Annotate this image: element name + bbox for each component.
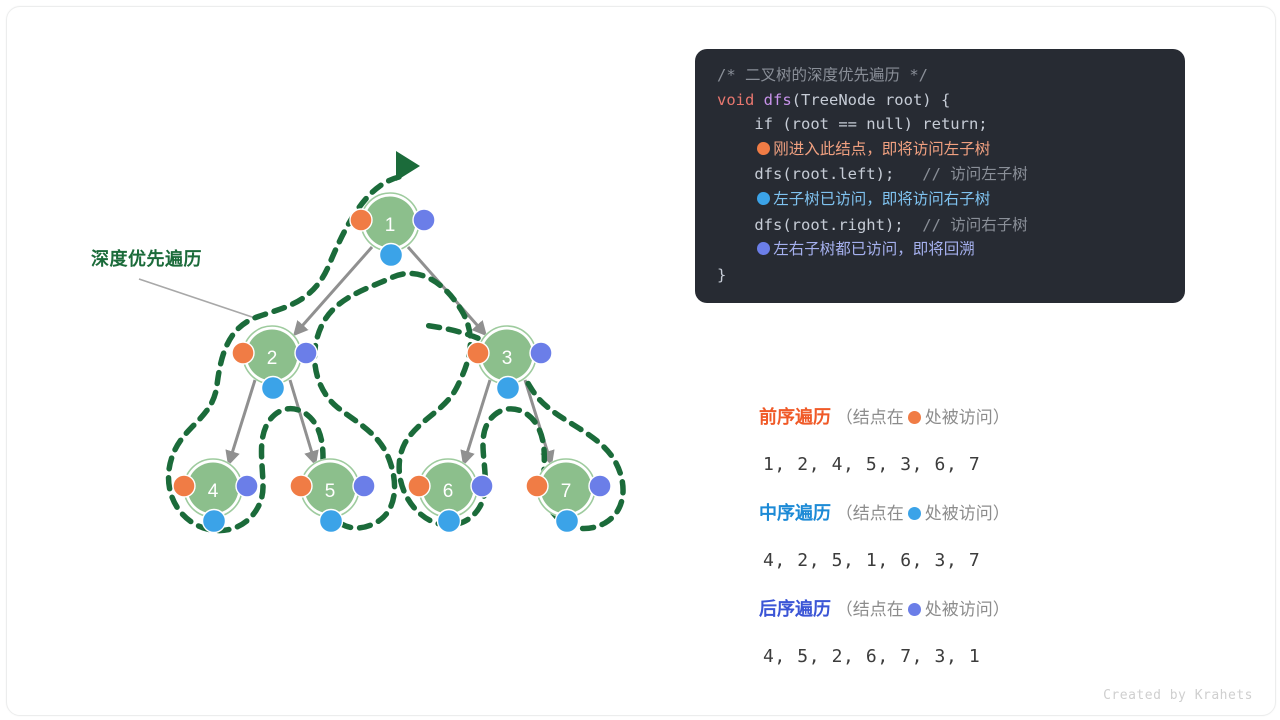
inorder-paren-open: （结点在 bbox=[836, 504, 904, 523]
preorder-paren-open: （结点在 bbox=[836, 408, 904, 427]
inorder-sequence: 4, 2, 5, 1, 6, 3, 7 bbox=[759, 537, 1189, 585]
code-line-dfs-left: dfs(root.left); // 访问左子树 bbox=[695, 162, 1185, 187]
node-value: 5 bbox=[325, 481, 336, 502]
in-order-dot bbox=[320, 510, 343, 533]
in-order-dot bbox=[556, 510, 579, 533]
postorder-paren-close: 处被访问） bbox=[925, 600, 1010, 619]
pre-order-dot bbox=[526, 475, 548, 497]
code-annotation-preorder: 刚进入此结点，即将访问左子树 bbox=[695, 137, 1185, 163]
signature-params: (TreeNode root) { bbox=[792, 91, 951, 109]
annotation-preorder-text: 刚进入此结点，即将访问左子树 bbox=[773, 141, 990, 158]
label-leader-line bbox=[139, 279, 255, 318]
pre-order-dot bbox=[350, 209, 372, 231]
post-order-dot bbox=[353, 475, 375, 497]
node-value: 2 bbox=[267, 348, 278, 369]
post-order-dot bbox=[471, 475, 493, 497]
code-line-close-brace: } bbox=[695, 263, 1185, 288]
inorder-heading: 中序遍历 （结点在处被访问） bbox=[759, 489, 1189, 538]
code-line-comment-header: /* 二叉树的深度优先遍历 */ bbox=[695, 63, 1185, 88]
traversal-orders: 前序遍历 （结点在处被访问） 1, 2, 4, 5, 3, 6, 7 中序遍历 … bbox=[759, 393, 1189, 681]
keyword-void: void bbox=[717, 91, 754, 109]
tree-node[interactable]: 6 bbox=[408, 458, 493, 533]
postorder-heading: 后序遍历 （结点在处被访问） bbox=[759, 585, 1189, 634]
post-order-dot bbox=[589, 475, 611, 497]
post-order-dot bbox=[530, 342, 552, 364]
postorder-paren-open: （结点在 bbox=[836, 600, 904, 619]
figure-card: 1 2 bbox=[6, 6, 1276, 716]
traversal-order-row: 中序遍历 （结点在处被访问） bbox=[759, 489, 1189, 537]
traversal-sequence-row: 4, 5, 2, 6, 7, 3, 1 bbox=[759, 633, 1189, 681]
in-order-dot bbox=[380, 244, 403, 267]
tree-node[interactable]: 7 bbox=[526, 458, 611, 533]
code-annotation-postorder: 左右子树都已访问，即将回溯 bbox=[695, 237, 1185, 263]
preorder-paren-close: 处被访问） bbox=[925, 408, 1010, 427]
pre-order-dot bbox=[408, 475, 430, 497]
code-line-signature: void dfs(TreeNode root) { bbox=[695, 88, 1185, 113]
traversal-sequence-row: 4, 2, 5, 1, 6, 3, 7 bbox=[759, 537, 1189, 585]
dfs-right-comment: // 访问右子树 bbox=[904, 216, 1028, 234]
in-order-dot-icon bbox=[908, 507, 921, 520]
preorder-heading: 前序遍历 （结点在处被访问） bbox=[759, 393, 1189, 442]
node-value: 4 bbox=[208, 481, 219, 502]
function-name-dfs: dfs bbox=[754, 91, 791, 109]
node-value: 6 bbox=[443, 481, 454, 502]
inorder-title: 中序遍历 bbox=[759, 503, 831, 523]
binary-tree-diagram: 1 2 bbox=[7, 7, 687, 715]
pre-order-dot bbox=[467, 342, 489, 364]
tree-node[interactable]: 5 bbox=[290, 458, 375, 533]
in-order-dot-icon bbox=[757, 192, 770, 205]
pre-order-dot bbox=[173, 475, 195, 497]
post-order-dot bbox=[295, 342, 317, 364]
dfs-label: 深度优先遍历 bbox=[91, 245, 202, 271]
dfs-right-call: dfs(root.right); bbox=[717, 216, 904, 234]
post-order-dot-icon bbox=[908, 603, 921, 616]
code-line-dfs-right: dfs(root.right); // 访问右子树 bbox=[695, 213, 1185, 238]
traversal-order-row: 后序遍历 （结点在处被访问） bbox=[759, 585, 1189, 633]
tree-node[interactable]: 2 bbox=[232, 325, 317, 400]
in-order-dot bbox=[203, 510, 226, 533]
annotation-postorder-text: 左右子树都已访问，即将回溯 bbox=[773, 241, 975, 258]
pre-order-dot-icon bbox=[908, 411, 921, 424]
traversal-order-row: 前序遍历 （结点在处被访问） bbox=[759, 393, 1189, 441]
pre-order-dot bbox=[232, 342, 254, 364]
dfs-left-comment: // 访问左子树 bbox=[894, 165, 1028, 183]
play-triangle-icon bbox=[396, 151, 420, 181]
preorder-title: 前序遍历 bbox=[759, 407, 831, 427]
preorder-sequence: 1, 2, 4, 5, 3, 6, 7 bbox=[759, 441, 1189, 489]
in-order-dot bbox=[497, 377, 520, 400]
inorder-paren-close: 处被访问） bbox=[925, 504, 1010, 523]
node-value: 1 bbox=[385, 215, 396, 236]
code-block: /* 二叉树的深度优先遍历 */ void dfs(TreeNode root)… bbox=[695, 49, 1185, 303]
annotation-inorder-text: 左子树已访问，即将访问右子树 bbox=[773, 191, 990, 208]
node-value: 7 bbox=[561, 481, 572, 502]
traversal-sequence-row: 1, 2, 4, 5, 3, 6, 7 bbox=[759, 441, 1189, 489]
pre-order-dot-icon bbox=[757, 142, 770, 155]
code-line-null-check: if (root == null) return; bbox=[695, 112, 1185, 137]
dfs-left-call: dfs(root.left); bbox=[717, 165, 894, 183]
in-order-dot bbox=[262, 377, 285, 400]
post-order-dot-icon bbox=[757, 242, 770, 255]
post-order-dot bbox=[236, 475, 258, 497]
tree-node[interactable]: 3 bbox=[467, 325, 552, 400]
in-order-dot bbox=[438, 510, 461, 533]
credit-text: Created by Krahets bbox=[1103, 688, 1253, 703]
postorder-title: 后序遍历 bbox=[759, 599, 831, 619]
post-order-dot bbox=[413, 209, 435, 231]
postorder-sequence: 4, 5, 2, 6, 7, 3, 1 bbox=[759, 633, 1189, 681]
tree-svg: 1 2 bbox=[7, 7, 687, 715]
node-value: 3 bbox=[502, 348, 513, 369]
pre-order-dot bbox=[290, 475, 312, 497]
code-annotation-inorder: 左子树已访问，即将访问右子树 bbox=[695, 187, 1185, 213]
